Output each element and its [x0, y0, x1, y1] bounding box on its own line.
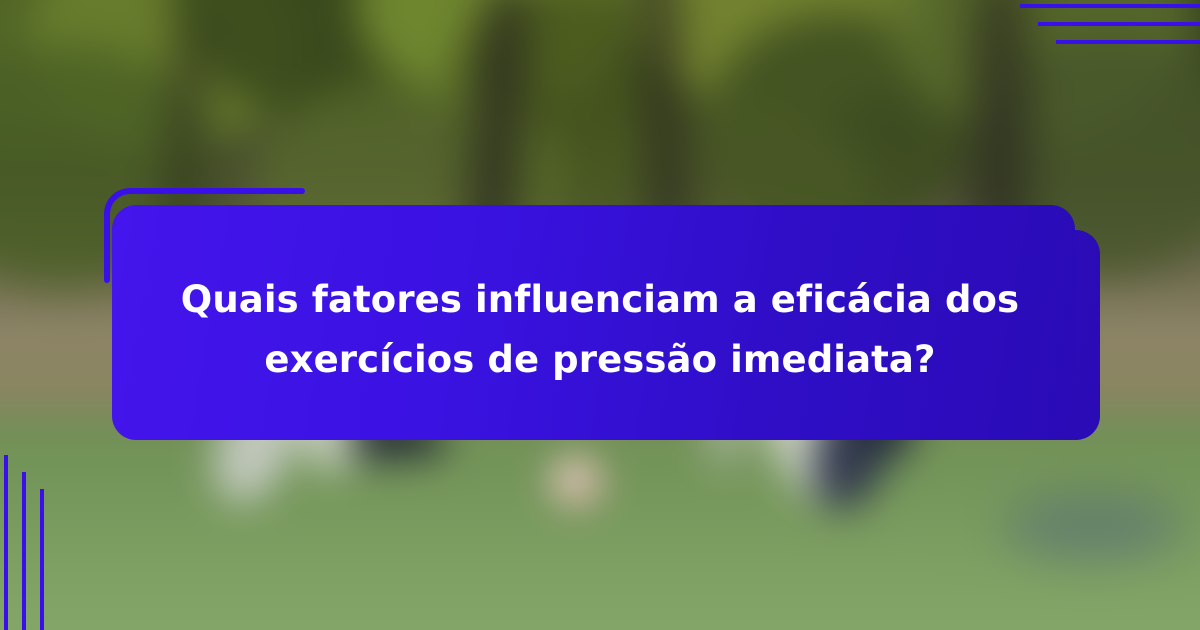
corner-bracket-bottom-left-inner: [40, 489, 234, 630]
headline-line-1: Quais fatores influenciam a eficácia dos: [181, 278, 1019, 322]
ground-shadow: [1003, 495, 1183, 559]
headline-line-2: exercícios de pressão imediata?: [264, 338, 935, 382]
soccer-ball: [549, 456, 604, 507]
headline: Quais fatores influenciam a eficácia dos…: [140, 240, 1060, 420]
social-card-canvas: Quais fatores influenciam a eficácia dos…: [0, 0, 1200, 630]
